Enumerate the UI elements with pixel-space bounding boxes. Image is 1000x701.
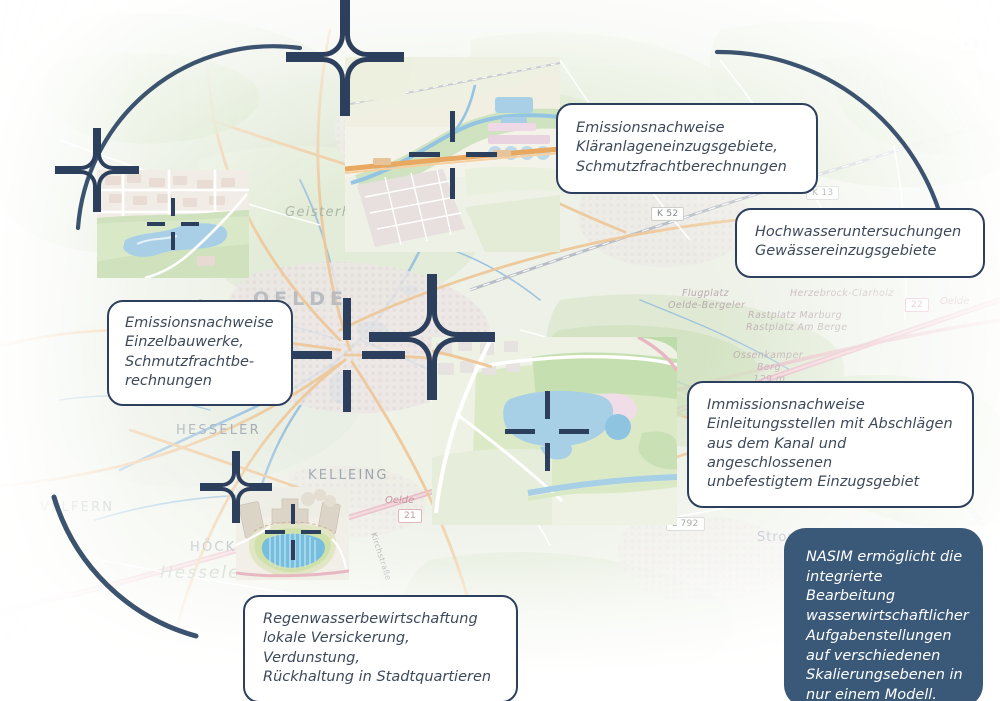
nasim-line-2: integrierte Bearbeitung <box>806 569 895 605</box>
callout-hochwasseruntersuchungen[interactable]: Hochwasseruntersuchungen Gewässereinzugs… <box>735 208 985 278</box>
inset-einzelbauwerk-frame <box>97 170 249 278</box>
callout-line-1: Kläranlageneinzugsgebiete, <box>576 138 800 157</box>
infographic-canvas: Geisterholz OELDE HESSELER VELFERN HÖCKE… <box>0 0 1000 701</box>
callout-line-2: Rückhaltung in Stadtquartieren <box>263 668 501 687</box>
nasim-line-6: Skalierungsebenen in <box>806 667 963 683</box>
callout-head: Emissionsnachweise <box>125 314 277 333</box>
callout-line-2: Schmutzfrachtberechnungen <box>576 158 800 177</box>
callout-line-1: Gewässereinzugsgebiete <box>755 242 967 261</box>
inset-klaeranlage[interactable] <box>345 57 560 252</box>
callout-immissionsnachweise[interactable]: Immissionsnachweise Einleitungsstellen m… <box>687 381 974 508</box>
nasim-line-1: NASIM ermöglicht die <box>806 549 962 565</box>
nasim-line-7: nur einem Modell. <box>806 687 937 701</box>
callout-emissionsnachweise-klaeranlage[interactable]: Emissionsnachweise Kläranlageneinzugsgeb… <box>556 103 818 194</box>
inset-regenwasser[interactable] <box>236 487 349 580</box>
callout-head: Immissionsnachweise <box>707 396 957 415</box>
inset-einleitungsstelle[interactable] <box>432 337 677 525</box>
inset-einleitungsstelle-frame <box>432 337 677 525</box>
callout-regenwasserbewirtschaftung[interactable]: Regenwasserbewirtschaftung lokale Versic… <box>243 595 518 701</box>
callout-emissionsnachweise-einzelbauwerke[interactable]: Emissionsnachweise Einzelbauwerke, Schmu… <box>107 300 293 406</box>
callout-line-2: Schmutzfrachtbe- <box>125 353 277 372</box>
callout-line-3: rechnungen <box>125 372 277 391</box>
callout-line-1: Einleitungsstellen mit Abschlägen <box>707 415 957 434</box>
callout-head: Regenwasserbewirtschaftung <box>263 610 501 629</box>
inset-klaeranlage-frame <box>345 57 560 252</box>
callout-head: Hochwasseruntersuchungen <box>755 223 967 242</box>
callout-line-3: unbefestigtem Einzugsgebiet <box>707 473 957 492</box>
callout-head: Emissionsnachweise <box>576 119 800 138</box>
nasim-summary-panel: NASIM ermöglicht die integrierte Bearbei… <box>784 528 983 701</box>
inset-einzelbauwerk[interactable] <box>97 170 249 278</box>
nasim-line-5: auf verschiedenen <box>806 648 940 664</box>
inset-regenwasser-frame <box>236 487 349 580</box>
callout-line-1: Einzelbauwerke, <box>125 333 277 352</box>
nasim-line-4: Aufgabenstellungen <box>806 628 952 644</box>
callout-line-2: aus dem Kanal und angeschlossenen <box>707 435 957 474</box>
callout-line-1: lokale Versickerung, Verdunstung, <box>263 629 501 668</box>
nasim-line-3: wasserwirtschaftlicher <box>806 608 969 624</box>
